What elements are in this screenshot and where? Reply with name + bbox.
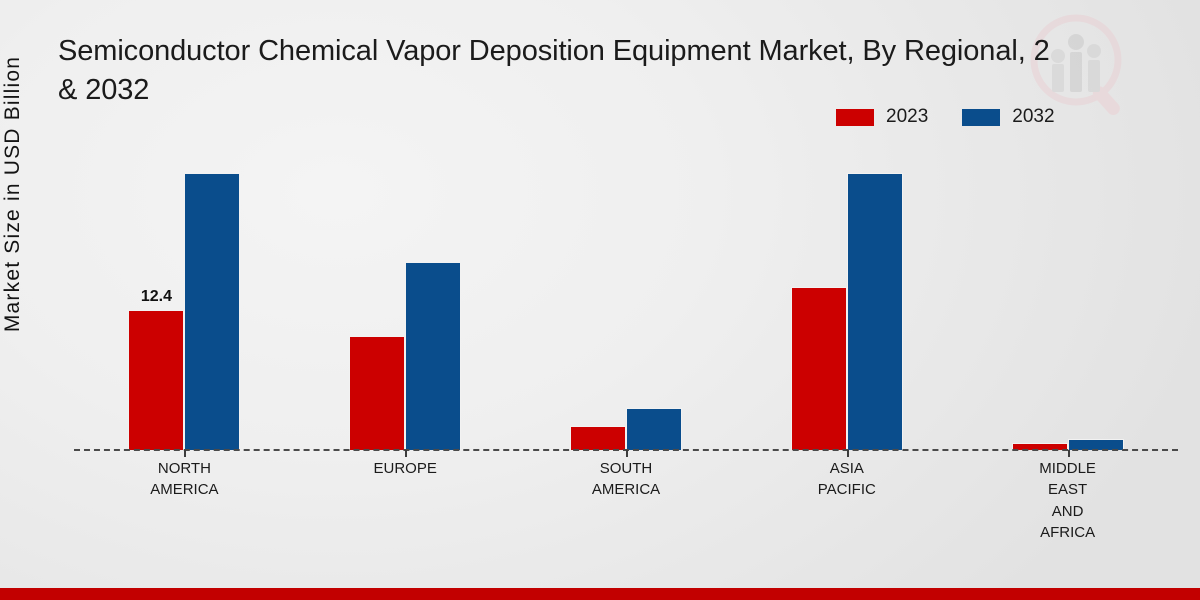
x-axis-category-label: ASIA PACIFIC	[737, 458, 957, 501]
x-axis-tick	[184, 450, 186, 457]
bar-group	[958, 150, 1178, 450]
chart-canvas: Semiconductor Chemical Vapor Deposition …	[0, 0, 1200, 600]
x-axis-category-label: EUROPE	[295, 458, 515, 479]
bar-group	[295, 150, 515, 450]
bar-2023[interactable]	[570, 426, 626, 450]
x-axis-tick	[405, 450, 407, 457]
plot-area: 12.4	[74, 150, 1178, 450]
bar-2023[interactable]: 12.4	[128, 310, 184, 450]
legend-swatch-2032	[962, 109, 1000, 126]
bar-2023[interactable]	[349, 336, 405, 450]
bar-2032[interactable]	[847, 173, 903, 450]
x-axis-tick	[626, 450, 628, 457]
legend-swatch-2023	[836, 109, 874, 126]
chart-title: Semiconductor Chemical Vapor Deposition …	[58, 32, 1200, 109]
y-axis-title: Market Size in USD Billion	[1, 29, 25, 359]
bottom-accent-band	[0, 588, 1200, 600]
x-axis-category-label: MIDDLE EAST AND AFRICA	[958, 458, 1178, 543]
x-axis-category-label: NORTH AMERICA	[74, 458, 294, 501]
x-axis-category-label: SOUTH AMERICA	[516, 458, 736, 501]
x-axis-tick	[847, 450, 849, 457]
legend-label-2023: 2023	[886, 106, 928, 128]
bar-2032[interactable]	[626, 408, 682, 450]
bar-2032[interactable]	[405, 262, 461, 450]
legend-item-2032[interactable]: 2032	[962, 106, 1054, 128]
bar-2023[interactable]	[791, 287, 847, 450]
bar-value-label: 12.4	[141, 288, 172, 306]
legend-item-2023[interactable]: 2023	[836, 106, 928, 128]
bar-2032[interactable]	[184, 173, 240, 450]
chart-legend: 2023 2032	[836, 106, 1055, 128]
x-axis-tick	[1068, 450, 1070, 457]
bar-group	[737, 150, 957, 450]
bar-group	[516, 150, 736, 450]
legend-label-2032: 2032	[1012, 106, 1054, 128]
bar-group: 12.4	[74, 150, 294, 450]
